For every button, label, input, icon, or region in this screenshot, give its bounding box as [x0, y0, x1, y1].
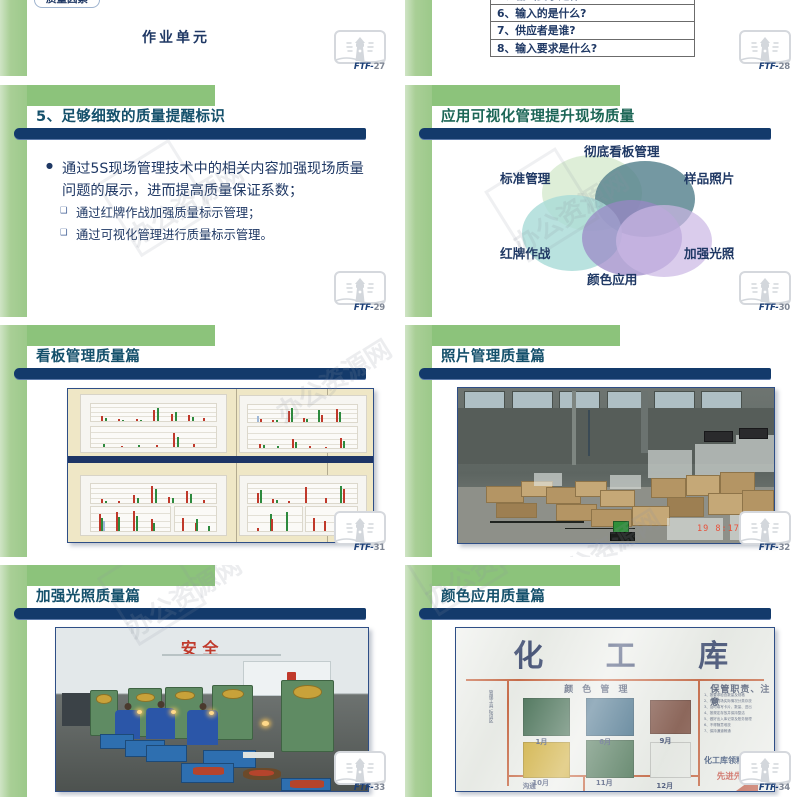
bullet-secondary: 通过红牌作战加强质量标示管理； — [46, 204, 376, 224]
lighthouse-icon — [334, 511, 386, 545]
green-top-band — [27, 325, 215, 346]
green-left-band — [405, 0, 432, 76]
slide-thumbnail-29[interactable]: 5、足够细致的质量提醒标识 通过5S现场管理技术中的相关内容加强现场质量问题的展… — [0, 85, 393, 317]
lighthouse-icon — [739, 751, 791, 785]
slide-title: 加强光照质量篇 — [36, 585, 376, 606]
slide-thumbnail-34[interactable]: 颜色应用质量篇 化 工 库 颜 色 管 理 保管职责、注意 1月 — [405, 565, 798, 797]
diagram-caption: 作业单元 — [142, 27, 210, 47]
green-left-band — [0, 325, 27, 557]
venn-label-bottom-left: 红牌作战 — [500, 243, 550, 262]
green-left-band — [0, 85, 27, 317]
slide-number: 30 — [779, 303, 790, 313]
slide-title: 看板管理质量篇 — [36, 345, 376, 366]
slide-number: 31 — [374, 543, 385, 553]
venn-label-bottom: 颜色应用 — [587, 269, 637, 288]
slide-number: 27 — [374, 62, 385, 72]
slide-title: 照片管理质量篇 — [441, 345, 781, 366]
ftf-badge: FTF-30 — [739, 271, 791, 313]
badge-label: FTF-27 — [354, 62, 385, 72]
lighthouse-icon — [334, 271, 386, 305]
slide-thumbnail-27[interactable]: 搬运中的 质量因素 质量因素 作业单元 — [0, 0, 393, 76]
green-top-band — [432, 565, 620, 586]
slide-thumbnail-31[interactable]: 看板管理质量篇 — [0, 325, 393, 557]
table-row: 6、输入的是什么? — [491, 5, 694, 23]
lighthouse-icon — [739, 271, 791, 305]
title-underline-bar — [419, 128, 771, 139]
slide-thumbnail-28[interactable]: 5、输出要求是什么? 6、输入的是什么? 7、供应者是谁? 8、输入要求是什么?… — [405, 0, 798, 76]
slide-number: 29 — [374, 303, 385, 313]
green-top-band — [432, 85, 620, 106]
title-underline-bar — [14, 368, 366, 379]
title-underline-bar — [14, 608, 366, 619]
badge-label: FTF-30 — [759, 303, 790, 313]
ftf-badge: FTF-29 — [334, 271, 386, 313]
green-left-band — [405, 325, 432, 557]
green-left-band — [405, 565, 432, 797]
ftf-badge: FTF-27 — [334, 30, 386, 72]
kanban-board-photo — [67, 388, 374, 543]
slide-number: 28 — [779, 62, 790, 72]
badge-label: FTF-34 — [759, 783, 790, 793]
question-table: 5、输出要求是什么? 6、输入的是什么? 7、供应者是谁? 8、输入要求是什么? — [490, 0, 695, 57]
lighthouse-icon — [739, 30, 791, 64]
slide-title: 颜色应用质量篇 — [441, 585, 781, 606]
slide-number: 34 — [779, 783, 790, 793]
badge-label: FTF-31 — [354, 543, 385, 553]
venn-label-bottom-right: 加强光照 — [684, 243, 734, 262]
bullet-list: 通过5S现场管理技术中的相关内容加强现场质量问题的展示，进而提高质量保证系数； … — [46, 159, 376, 246]
venn-label-top-right: 样品照片 — [684, 168, 734, 187]
slide-title: 5、足够细致的质量提醒标识 — [36, 105, 376, 126]
venn-label-top: 彻底看板管理 — [584, 141, 660, 160]
green-left-band — [0, 0, 27, 76]
slide-thumbnail-30[interactable]: 应用可视化管理提升现场质量 彻底看板管理 标准管理 样品照片 红牌作战 加强光照… — [405, 85, 798, 317]
ftf-badge: FTF-28 — [739, 30, 791, 72]
badge-label: FTF-28 — [759, 62, 790, 72]
lighthouse-icon — [334, 751, 386, 785]
slide-thumbnail-33[interactable]: 加强光照质量篇 安 全 — [0, 565, 393, 797]
warehouse-photo: 19 8:17 AM — [457, 387, 775, 544]
slide-title: 应用可视化管理提升现场质量 — [441, 105, 781, 126]
badge-label: FTF-29 — [354, 303, 385, 313]
lighthouse-icon — [739, 511, 791, 545]
workshop-photo: 安 全 — [55, 627, 369, 792]
table-row: 7、供应者是谁? — [491, 22, 694, 40]
slide-thumbnail-32[interactable]: 照片管理质量篇 — [405, 325, 798, 557]
ftf-badge: FTF-34 — [739, 751, 791, 793]
bullet-secondary: 通过可视化管理进行质量标示管理。 — [46, 226, 376, 246]
ftf-badge: FTF-31 — [334, 511, 386, 553]
slide-number: 32 — [779, 543, 790, 553]
green-left-band — [0, 565, 27, 797]
chemical-store-board-photo: 化 工 库 颜 色 管 理 保管职责、注意 1月 6月 9月 10月 11月 — [455, 627, 775, 792]
badge-label: FTF-33 — [354, 783, 385, 793]
title-underline-bar — [419, 368, 771, 379]
title-underline-bar — [14, 128, 366, 139]
bullet-primary: 通过5S现场管理技术中的相关内容加强现场质量问题的展示，进而提高质量保证系数； — [46, 159, 376, 202]
ftf-badge: FTF-33 — [334, 751, 386, 793]
venn-label-top-left: 标准管理 — [500, 168, 550, 187]
ftf-badge: FTF-32 — [739, 511, 791, 553]
badge-label: FTF-32 — [759, 543, 790, 553]
title-underline-bar — [419, 608, 771, 619]
process-flow-symbols — [122, 0, 332, 14]
green-top-band — [27, 85, 215, 106]
green-left-band — [405, 85, 432, 317]
slide-number: 33 — [374, 783, 385, 793]
bubble-label-left: 搬运中的 质量因素 — [34, 0, 100, 8]
slide-thumbnail-grid: 搬运中的 质量因素 质量因素 作业单元 — [0, 0, 800, 800]
green-top-band — [432, 325, 620, 346]
table-row: 8、输入要求是什么? — [491, 40, 694, 58]
green-top-band — [27, 565, 215, 586]
lighthouse-icon — [334, 30, 386, 64]
